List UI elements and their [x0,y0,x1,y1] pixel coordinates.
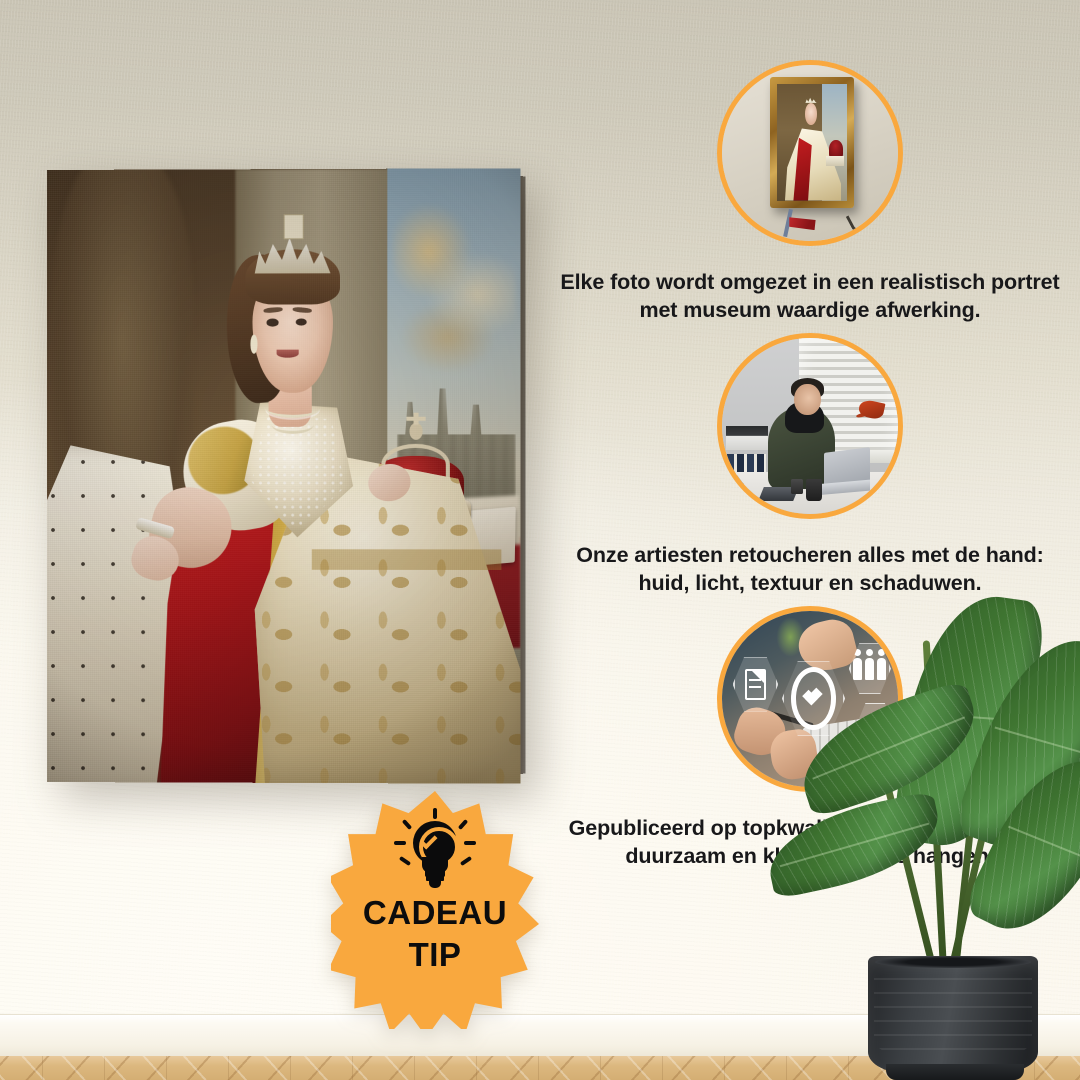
feature-text-2: Onze artiesten retoucheren alles met de … [540,541,1080,598]
photo1-table [826,156,844,165]
painting-canvas-grain [47,168,521,783]
photo2-pen-cup [806,479,822,502]
canvas-face [47,168,521,783]
cadeau-tip-badge[interactable]: CADEAU TIP [331,791,539,1029]
photo1-head [805,103,818,125]
feature-item-1: Elke foto wordt omgezet in een realistis… [540,60,1080,325]
badge-label-line1: CADEAU [363,895,507,931]
plant-pot-base [886,1064,1024,1080]
photo2-small-cup [791,479,803,495]
lightbulb-check-icon [402,817,468,891]
photo2-desk-lamp [849,401,884,429]
feature-item-2: Onze artiesten retoucheren alles met de … [540,333,1080,598]
photo1-canvas [777,84,847,200]
artist-retouching-photo[interactable] [717,333,903,519]
plant-pot-ridges [874,978,1032,1058]
framed-portrait-on-wall-photo[interactable] [717,60,903,246]
photo1-flag-decor [768,209,828,237]
photo1-tiara [805,97,816,103]
photo2-printer [726,426,768,451]
royal-portrait-canvas[interactable] [47,170,518,782]
room-scene: Elke foto wordt omgezet in een realistis… [0,0,1080,1080]
potted-plant [790,610,1080,1080]
feature-text-1: Elke foto wordt omgezet in een realistis… [540,268,1080,325]
photo2-artist-head [794,384,820,416]
badge-label-line2: TIP [409,937,462,973]
photo1-gold-frame [770,77,854,207]
plant-pot [868,956,1038,1074]
